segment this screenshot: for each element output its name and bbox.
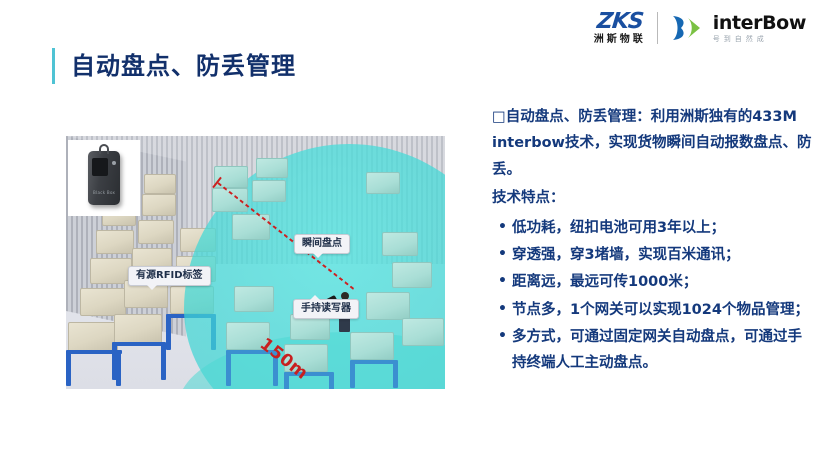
pallet-box-covered	[366, 172, 400, 194]
interbow-text: interBow 号到自然成	[713, 14, 806, 43]
callout-instant-count-label: 瞬间盘点	[302, 238, 342, 249]
callout-instant-count: 瞬间盘点	[294, 234, 350, 254]
list-item-label: 距离远，最远可传1000米；	[512, 269, 814, 295]
interbow-chinese-tagline: 号到自然成	[713, 36, 806, 43]
rack-beam	[350, 360, 398, 364]
pallet-box-covered	[402, 318, 444, 346]
features-heading: 技术特点：	[492, 185, 814, 211]
interbow-logo: interBow 号到自然成	[669, 13, 806, 43]
rack-post	[329, 374, 334, 389]
pallet-box-covered	[392, 262, 432, 288]
intro-text: 自动盘点、防丢管理：利用洲斯独有的433M interbow技术，实现货物瞬间自…	[492, 109, 811, 178]
pallet-box-covered	[382, 232, 418, 256]
pallet-box-covered	[256, 158, 288, 178]
list-item-label: 节点多，1个网关可以实现1024个物品管理；	[512, 297, 814, 323]
warehouse-illustration: 150m 有源RFID标签 瞬间盘点 手持读写器 Black Box	[66, 136, 445, 389]
pallet-box	[68, 322, 118, 352]
pallet-box	[96, 230, 134, 254]
device-lanyard-loop	[99, 144, 109, 154]
rack-post	[350, 362, 355, 388]
rack-post	[112, 344, 117, 380]
device-led-icon	[112, 161, 116, 165]
device-brand-text: Black Box	[93, 190, 115, 195]
bullet-marker-icon: •	[492, 269, 512, 294]
slide: ZKS 洲斯物联 interBow 号到自然成 自动盘点、防丢管理	[0, 0, 820, 461]
rack-post	[226, 352, 231, 386]
list-item: • 穿透强，穿3堵墙，实现百米通讯；	[492, 242, 814, 268]
title-label: 自动盘点、防丢管理	[71, 54, 296, 78]
zks-logo: ZKS 洲斯物联	[594, 11, 646, 45]
interbow-bow-icon	[669, 13, 707, 43]
bullet-marker-icon: •	[492, 215, 512, 240]
list-item: • 低功耗，纽扣电池可用3年以上；	[492, 215, 814, 241]
pallet-box	[138, 220, 174, 244]
bullet-marker-icon: •	[492, 242, 512, 267]
rack-post	[284, 374, 289, 389]
callout-handheld-reader: 手持读写器	[293, 299, 359, 319]
callout-rfid-tag-label: 有源RFID标签	[136, 270, 203, 281]
intro-marker-icon: □	[492, 109, 506, 125]
bullet-marker-icon: •	[492, 297, 512, 322]
zks-wordmark: ZKS	[596, 11, 644, 33]
zks-chinese-name: 洲斯物联	[594, 35, 646, 45]
rack-post	[66, 352, 71, 386]
pallet-box	[114, 314, 162, 344]
pallet-box-covered	[366, 292, 410, 320]
rfid-tag-device: Black Box	[88, 151, 120, 205]
brand-bar: ZKS 洲斯物联 interBow 号到自然成	[594, 8, 806, 48]
list-item: • 节点多，1个网关可以实现1024个物品管理；	[492, 297, 814, 323]
pallet-box	[142, 194, 176, 216]
list-item-label: 低功耗，纽扣电池可用3年以上；	[512, 215, 814, 241]
worker-legs	[339, 317, 350, 332]
list-item-label: 多方式，可通过固定网关自动盘点，可通过手持终端人工主动盘点。	[512, 324, 814, 377]
page-title: 自动盘点、防丢管理	[52, 48, 296, 84]
brand-divider	[657, 12, 658, 44]
pallet-box	[144, 174, 176, 194]
list-item: • 多方式，可通过固定网关自动盘点，可通过手持终端人工主动盘点。	[492, 324, 814, 377]
features-list: • 低功耗，纽扣电池可用3年以上； • 穿透强，穿3堵墙，实现百米通讯； • 距…	[492, 215, 814, 377]
interbow-wordmark: interBow	[713, 14, 806, 33]
list-item-label: 穿透强，穿3堵墙，实现百米通讯；	[512, 242, 814, 268]
pallet-box-covered	[234, 286, 274, 312]
pallet-box-covered	[350, 332, 394, 360]
content-column: □自动盘点、防丢管理：利用洲斯独有的433M interbow技术，实现货物瞬间…	[492, 104, 814, 378]
pallet-box	[80, 288, 126, 316]
callout-handheld-reader-label: 手持读写器	[301, 303, 351, 314]
bullet-marker-icon: •	[492, 324, 512, 349]
rack-beam	[112, 342, 166, 346]
rack-post	[393, 362, 398, 388]
intro-paragraph: □自动盘点、防丢管理：利用洲斯独有的433M interbow技术，实现货物瞬间…	[492, 104, 814, 183]
title-accent-bar	[52, 48, 55, 84]
list-item: • 距离远，最远可传1000米；	[492, 269, 814, 295]
rack-post	[166, 316, 171, 350]
pallet-box-covered	[252, 180, 286, 202]
rfid-tag-device-card: Black Box	[68, 140, 140, 216]
device-screen	[92, 158, 108, 176]
callout-rfid-tag: 有源RFID标签	[128, 266, 211, 286]
